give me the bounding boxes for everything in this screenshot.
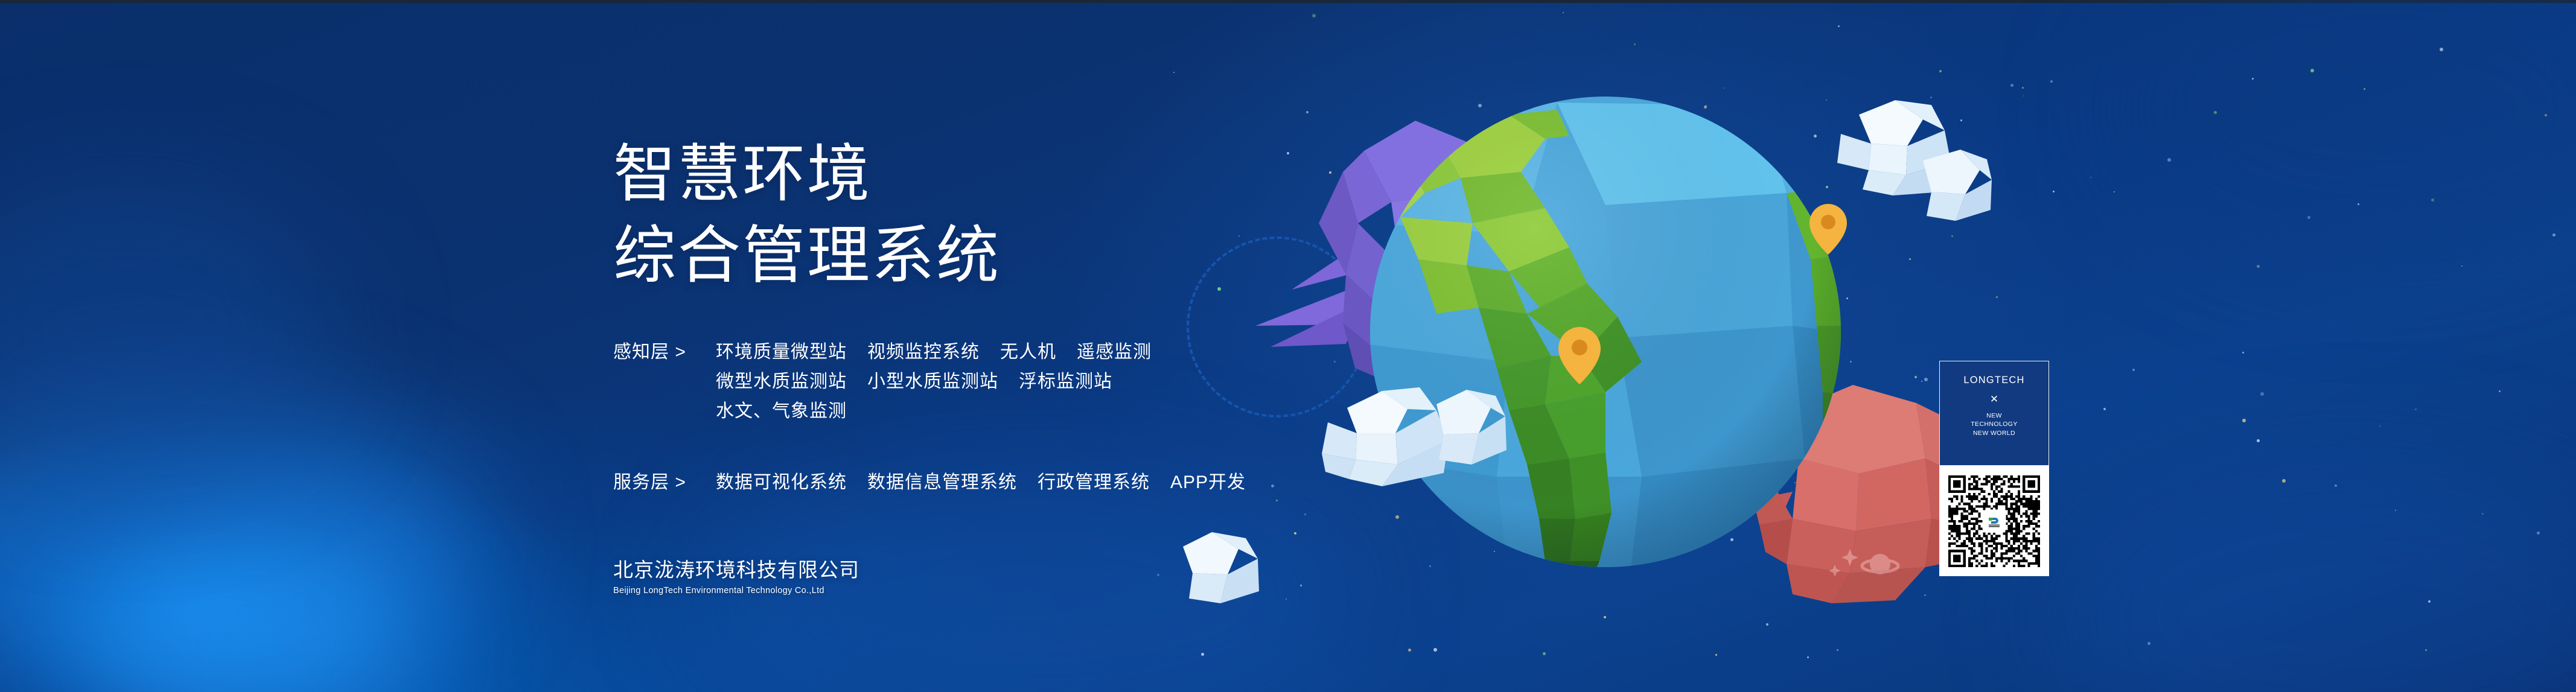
star-dot bbox=[2552, 233, 2555, 236]
wechat-account-logo bbox=[1983, 510, 2005, 532]
star-dot bbox=[2260, 392, 2264, 396]
star-dot bbox=[2379, 425, 2380, 427]
star-dot bbox=[2252, 78, 2254, 80]
glow-haze-left bbox=[0, 386, 483, 692]
company-signature: 北京泷涛环境科技有限公司 Beijing LongTech Environmen… bbox=[613, 554, 859, 595]
star-dot bbox=[2214, 111, 2217, 114]
brand-tagline: NEW TECHNOLOGY NEW WORLD bbox=[1971, 411, 2018, 437]
cloud-upper-right bbox=[1837, 100, 1992, 221]
cross-icon: ✕ bbox=[1990, 394, 1998, 404]
layer-item[interactable]: 浮标监测站 bbox=[1019, 367, 1112, 397]
layer-item[interactable]: APP开发 bbox=[1170, 468, 1246, 498]
cloud-bottom bbox=[1183, 532, 1259, 603]
star-dot bbox=[2257, 265, 2260, 268]
company-name-en: Beijing LongTech Environmental Technolog… bbox=[613, 586, 859, 595]
star-dot bbox=[1715, 654, 1717, 656]
star-dot bbox=[2428, 600, 2431, 603]
banner-stage: 智慧环境 综合管理系统 感知层 > 环境质量微型站 视频监控系统 无人机 遥感监… bbox=[0, 0, 2576, 692]
star-dot bbox=[2282, 479, 2286, 483]
layer-item[interactable]: 小型水质监测站 bbox=[867, 367, 998, 397]
layer-item[interactable]: 环境质量微型站 bbox=[716, 338, 847, 367]
qr-card-header: LONGTECH ✕ NEW TECHNOLOGY NEW WORLD bbox=[1939, 361, 2049, 466]
layer-line: 微型水质监测站 小型水质监测站 浮标监测站 bbox=[716, 367, 1152, 397]
qr-code-box[interactable] bbox=[1948, 475, 2040, 567]
star-dot bbox=[2257, 439, 2260, 442]
star-dot bbox=[2461, 265, 2463, 267]
layer-item[interactable]: 视频监控系统 bbox=[867, 338, 980, 367]
star-dot bbox=[2425, 649, 2427, 651]
star-dot bbox=[2242, 352, 2244, 354]
company-name-cn: 北京泷涛环境科技有限公司 bbox=[613, 554, 859, 583]
longtech-logo-icon bbox=[1986, 513, 2002, 529]
star-dot bbox=[2310, 69, 2314, 72]
star-dot bbox=[1173, 72, 1175, 73]
star-dot bbox=[2482, 513, 2484, 515]
star-dot bbox=[1563, 12, 1564, 13]
layer-row-service: 服务层 > 数据可视化系统 数据信息管理系统 行政管理系统 APP开发 bbox=[613, 468, 1398, 498]
layer-item[interactable]: 无人机 bbox=[1000, 338, 1056, 367]
glow-haze-right bbox=[2052, 459, 2576, 692]
star-dot bbox=[2114, 191, 2115, 192]
star-dot bbox=[2050, 80, 2053, 83]
layer-label-perception[interactable]: 感知层 > bbox=[613, 338, 716, 367]
layer-list: 感知层 > 环境质量微型站 视频监控系统 无人机 遥感监测 微型水质监测站 小型… bbox=[613, 338, 1398, 497]
star-dot bbox=[2545, 114, 2547, 116]
star-dot bbox=[2431, 198, 2434, 202]
qr-promo-card[interactable]: LONGTECH ✕ NEW TECHNOLOGY NEW WORLD bbox=[1939, 361, 2049, 576]
layer-item[interactable]: 微型水质监测站 bbox=[716, 367, 847, 397]
star-dot bbox=[2167, 158, 2171, 162]
star-dot bbox=[2499, 390, 2501, 392]
star-dot bbox=[2103, 408, 2106, 410]
star-dot bbox=[2307, 216, 2310, 219]
star-dot bbox=[1838, 25, 1840, 27]
layer-line: 数据可视化系统 数据信息管理系统 行政管理系统 APP开发 bbox=[716, 468, 1246, 498]
layer-item[interactable]: 遥感监测 bbox=[1077, 338, 1152, 367]
star-dot bbox=[2090, 177, 2091, 178]
layer-items-perception: 环境质量微型站 视频监控系统 无人机 遥感监测 微型水质监测站 小型水质监测站 … bbox=[716, 338, 1152, 426]
star-dot bbox=[2358, 203, 2359, 205]
star-dot bbox=[1201, 653, 1204, 656]
star-dot bbox=[2415, 408, 2417, 410]
star-dot bbox=[2440, 48, 2443, 51]
layer-row-perception: 感知层 > 环境质量微型站 视频监控系统 无人机 遥感监测 微型水质监测站 小型… bbox=[613, 338, 1398, 426]
star-dot bbox=[2147, 642, 2150, 645]
star-dot bbox=[1312, 14, 1316, 17]
star-dot bbox=[2364, 88, 2365, 90]
layer-label-service[interactable]: 服务层 > bbox=[613, 468, 716, 498]
star-dot bbox=[2537, 532, 2540, 535]
star-dot bbox=[1157, 574, 1159, 576]
star-dot bbox=[2242, 419, 2246, 422]
layer-item[interactable]: 行政管理系统 bbox=[1038, 468, 1150, 498]
page-title: 智慧环境 综合管理系统 bbox=[613, 134, 1398, 297]
glow-haze-top-right bbox=[2112, 0, 2576, 265]
glow-haze-lower-left bbox=[84, 531, 422, 692]
star-dot bbox=[2335, 484, 2337, 487]
layer-line: 水文、气象监测 bbox=[716, 397, 1152, 427]
layer-item[interactable]: 水文、气象监测 bbox=[716, 397, 847, 427]
hero-copy: 智慧环境 综合管理系统 感知层 > 环境质量微型站 视频监控系统 无人机 遥感监… bbox=[613, 134, 1398, 498]
star-dot bbox=[2395, 510, 2396, 511]
layer-line: 环境质量微型站 视频监控系统 无人机 遥感监测 bbox=[716, 338, 1152, 367]
layer-item[interactable]: 数据可视化系统 bbox=[716, 468, 847, 498]
layer-item[interactable]: 数据信息管理系统 bbox=[867, 468, 1017, 498]
star-dot bbox=[2053, 191, 2055, 192]
star-dot bbox=[2132, 369, 2135, 371]
star-dot bbox=[1807, 656, 1809, 658]
qr-code-panel[interactable] bbox=[1939, 466, 2049, 576]
layer-items-service: 数据可视化系统 数据信息管理系统 行政管理系统 APP开发 bbox=[716, 468, 1246, 498]
brand-name: LONGTECH bbox=[1963, 375, 2024, 386]
star-dot bbox=[1543, 652, 1546, 655]
glow-haze-upper-left bbox=[0, 181, 338, 483]
top-edge-bar bbox=[0, 0, 2576, 3]
